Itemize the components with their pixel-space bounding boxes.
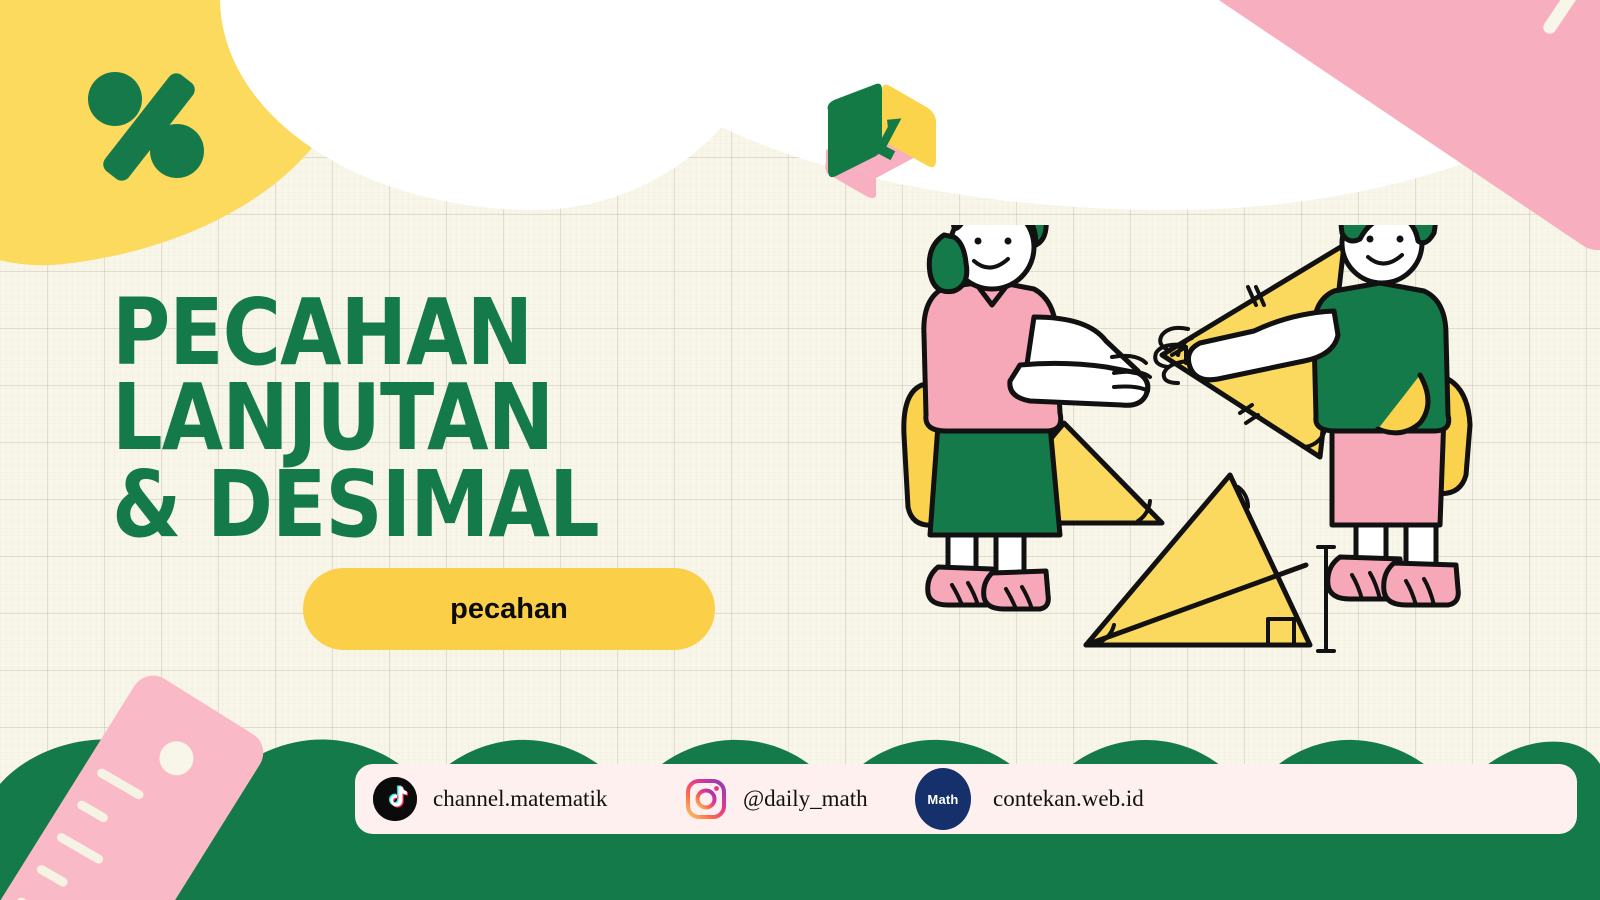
footer-social-bar: channel.matematik bbox=[355, 764, 1577, 834]
instagram-icon bbox=[685, 778, 727, 820]
percent-dot-bottom bbox=[150, 124, 204, 178]
page-title-line-2: & Desimal bbox=[112, 464, 928, 549]
character-girl bbox=[904, 225, 1150, 609]
footer-item-instagram[interactable]: @daily_math bbox=[685, 778, 868, 820]
page-title-line-1: Pecahan Lanjutan bbox=[112, 292, 928, 461]
footer-label-website: contekan.web.id bbox=[993, 786, 1144, 812]
number-cube-icon bbox=[818, 82, 940, 200]
footer-item-website[interactable]: Math contekan.web.id bbox=[915, 768, 1144, 830]
page-title: Pecahan Lanjutan & Desimal bbox=[112, 292, 912, 535]
percent-dot-top bbox=[88, 72, 142, 126]
percent-icon bbox=[88, 72, 208, 182]
tiktok-icon bbox=[373, 777, 417, 821]
math-logo-icon: Math bbox=[915, 768, 971, 830]
pecahan-button[interactable]: pecahan bbox=[303, 568, 715, 650]
footer-label-tiktok: channel.matematik bbox=[433, 786, 607, 812]
footer-label-instagram: @daily_math bbox=[743, 786, 868, 812]
poster-canvas: Pecahan Lanjutan & Desimal pecahan bbox=[0, 0, 1600, 900]
students-with-triangles-illustration bbox=[900, 225, 1500, 705]
math-logo-text: Math bbox=[927, 792, 958, 807]
footer-item-tiktok[interactable]: channel.matematik bbox=[373, 777, 607, 821]
ruler-hole bbox=[153, 735, 200, 782]
